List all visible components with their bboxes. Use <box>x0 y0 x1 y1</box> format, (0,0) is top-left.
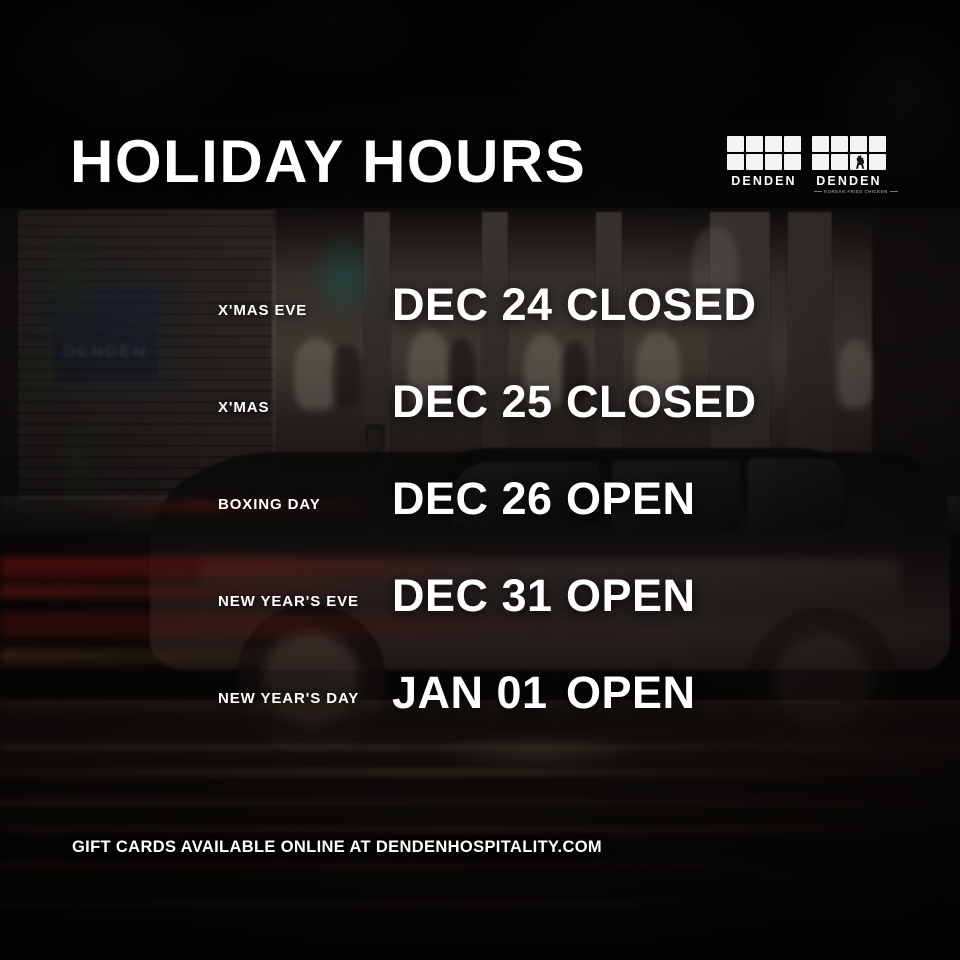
hours-row: X'MAS EVE DEC 24 CLOSED <box>0 282 960 379</box>
holiday-hours-table: X'MAS EVE DEC 24 CLOSED X'MAS DEC 25 CLO… <box>0 282 960 767</box>
hours-row-label: BOXING DAY <box>218 496 321 513</box>
denden-logo-kfc: DENDEN KOREAN FRIED CHICKEN <box>812 136 886 194</box>
logo-tagline: KOREAN FRIED CHICKEN <box>812 189 886 194</box>
hours-row-status: OPEN <box>566 670 696 715</box>
hours-row-date: DEC 25 <box>392 379 553 424</box>
hours-row-label: NEW YEAR'S DAY <box>218 690 359 707</box>
hours-row: BOXING DAY DEC 26 OPEN <box>0 476 960 573</box>
hours-row: X'MAS DEC 25 CLOSED <box>0 379 960 476</box>
hours-row: NEW YEAR'S DAY JAN 01 OPEN <box>0 670 960 767</box>
hours-row-status: CLOSED <box>566 379 757 424</box>
logo-wordmark: DENDEN <box>727 174 801 188</box>
window-grid-icon <box>812 136 886 170</box>
hours-row: NEW YEAR'S EVE DEC 31 OPEN <box>0 573 960 670</box>
hours-row-status: OPEN <box>566 573 696 618</box>
hours-row-label: X'MAS EVE <box>218 302 307 319</box>
hours-row-date: DEC 31 <box>392 573 553 618</box>
page-title: HOLIDAY HOURS <box>70 132 586 192</box>
gift-cards-footer: GIFT CARDS AVAILABLE ONLINE AT DENDENHOS… <box>72 838 602 857</box>
logo-wordmark: DENDEN <box>812 174 886 188</box>
hours-row-date: JAN 01 <box>392 670 548 715</box>
hours-row-status: CLOSED <box>566 282 757 327</box>
hours-row-date: DEC 24 <box>392 282 553 327</box>
poster-content: HOLIDAY HOURS DENDEN DENDEN KORE <box>0 0 960 960</box>
brand-logo-lockup: DENDEN DENDEN KOREAN FRIED CHICKEN <box>727 136 886 194</box>
denden-logo-primary: DENDEN <box>727 136 801 188</box>
hours-row-label: NEW YEAR'S EVE <box>218 593 359 610</box>
hours-row-label: X'MAS <box>218 399 269 416</box>
window-grid-icon <box>727 136 801 170</box>
hours-row-status: OPEN <box>566 476 696 521</box>
holiday-hours-poster: DENDEN <box>0 0 960 960</box>
hours-row-date: DEC 26 <box>392 476 553 521</box>
